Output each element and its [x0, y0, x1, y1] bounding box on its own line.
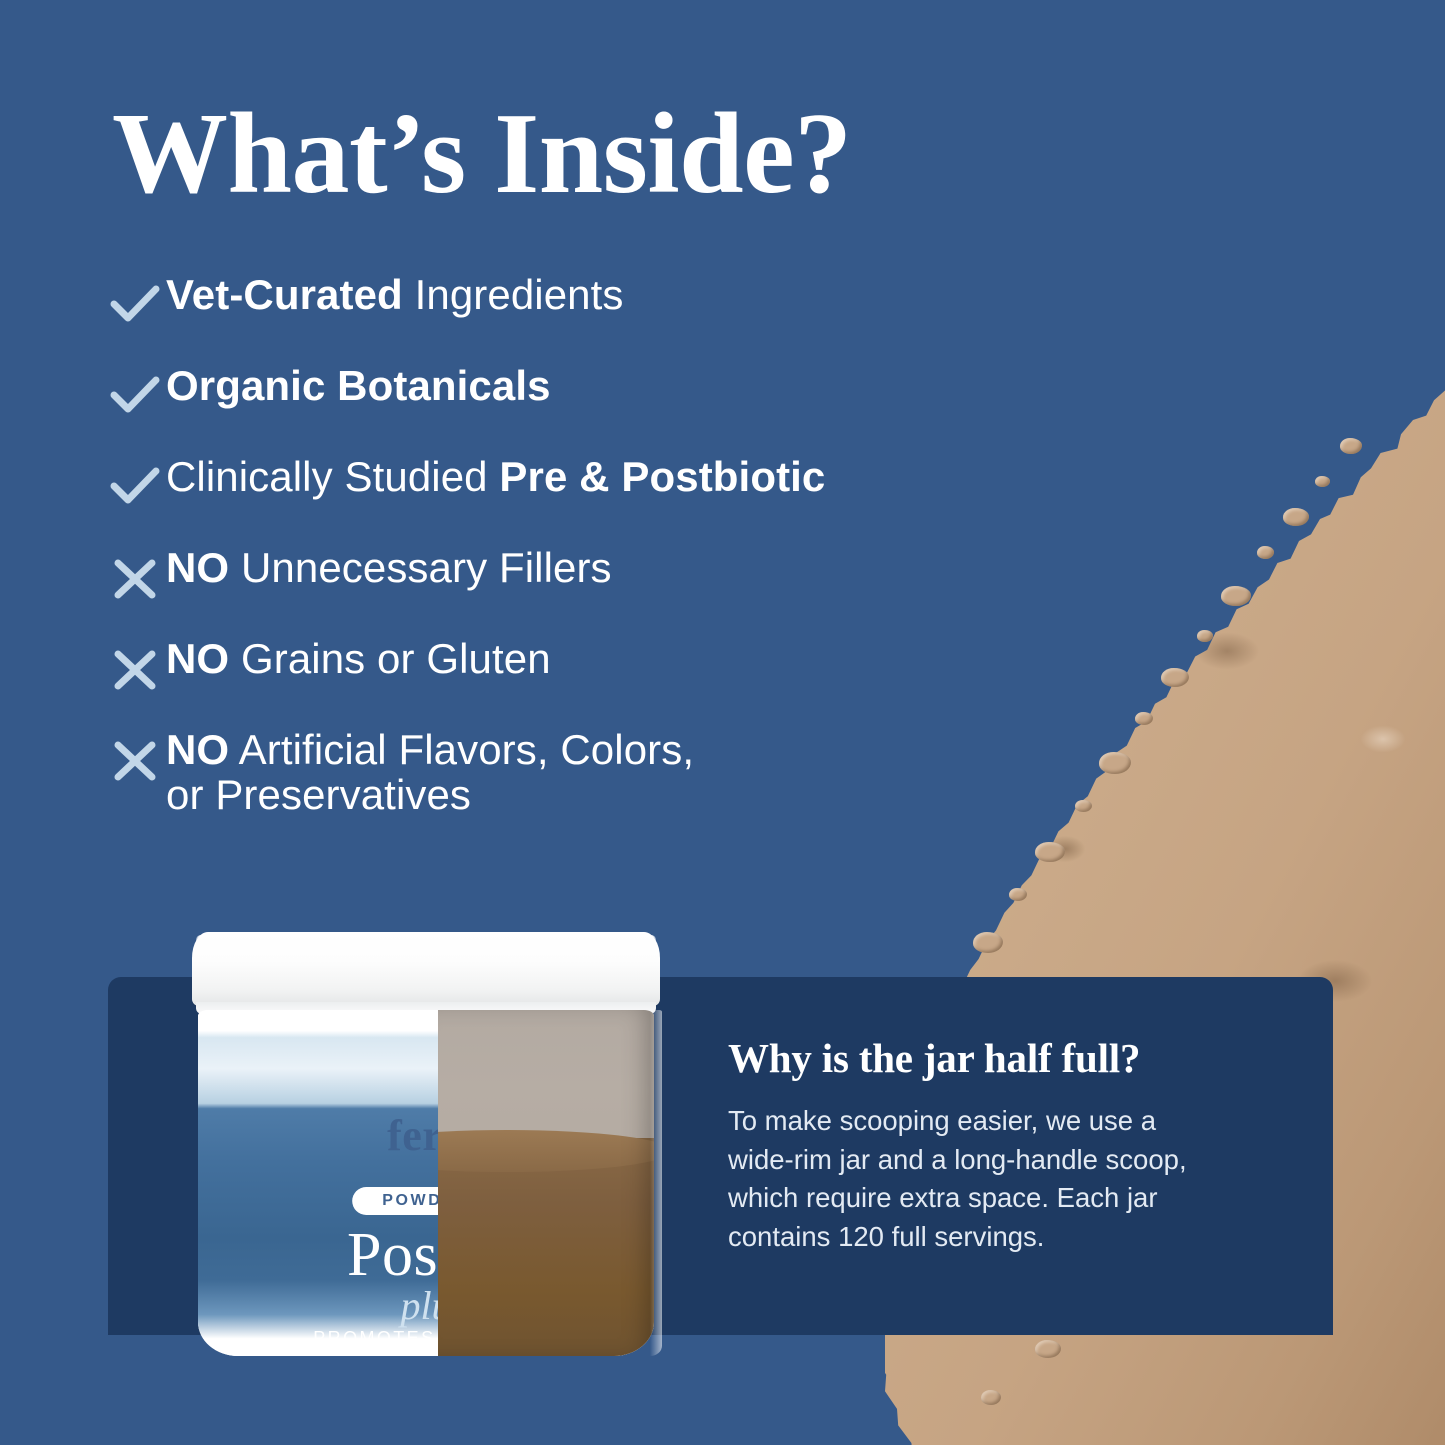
feature-item-pre-postbiotic: Clinically Studied Pre & Postbiotic — [108, 454, 1108, 514]
feature-bold: Vet-Curated — [166, 271, 403, 318]
feature-normal: Clinically Studied — [166, 453, 499, 500]
cross-icon — [108, 644, 166, 692]
check-icon — [108, 371, 166, 419]
feature-bold: NO — [166, 544, 229, 591]
powder-crumb — [1009, 888, 1027, 901]
check-icon — [108, 462, 166, 510]
product-jar-image: fera POWDER Postbi plu PROMOTES OPTIMAL … — [190, 932, 662, 1356]
feature-label: Organic Botanicals — [166, 363, 551, 408]
feature-label: NO Grains or Gluten — [166, 636, 551, 681]
info-card-text: Why is the jar half full? To make scoopi… — [728, 1034, 1288, 1256]
feature-item-no-artificial: NO Artificial Flavors, Colors, or Preser… — [108, 727, 1108, 818]
powder-crumb — [1135, 712, 1153, 725]
powder-crumb — [1221, 586, 1251, 606]
info-card-heading: Why is the jar half full? — [728, 1034, 1288, 1082]
feature-item-organic-botanicals: Organic Botanicals — [108, 363, 1108, 423]
info-card-body: To make scooping easier, we use a wide-r… — [728, 1102, 1228, 1256]
feature-item-no-fillers: NO Unnecessary Fillers — [108, 545, 1108, 605]
feature-item-no-grains: NO Grains or Gluten — [108, 636, 1108, 696]
powder-crumb — [1283, 508, 1309, 526]
jar-cutaway-view — [438, 1010, 654, 1356]
page-title: What’s Inside? — [112, 96, 852, 212]
feature-list: Vet-Curated Ingredients Organic Botanica… — [108, 272, 1108, 849]
jar-lid — [192, 932, 660, 1006]
feature-label: NO Artificial Flavors, Colors, or Preser… — [166, 727, 694, 818]
powder-crumb — [1161, 668, 1189, 687]
feature-normal: Unnecessary Fillers — [229, 544, 611, 591]
feature-normal: Ingredients — [403, 271, 624, 318]
powder-crumb — [1035, 1340, 1061, 1358]
powder-crumb — [1197, 630, 1213, 642]
feature-bold: NO — [166, 726, 229, 773]
promo-image: What’s Inside? Vet-Curated Ingredients O… — [0, 0, 1445, 1445]
powder-crumb — [1315, 476, 1330, 487]
feature-normal: Grains or Gluten — [229, 635, 551, 682]
feature-item-vet-curated: Vet-Curated Ingredients — [108, 272, 1108, 332]
powder-crumb — [1257, 546, 1274, 559]
feature-bold: NO — [166, 635, 229, 682]
feature-normal: Artificial Flavors, Colors, or Preservat… — [166, 726, 694, 818]
powder-crumb — [1340, 438, 1362, 454]
jar-powder-surface — [438, 1130, 654, 1172]
cross-icon — [108, 553, 166, 601]
feature-bold: Organic Botanicals — [166, 362, 551, 409]
powder-crumb — [981, 1390, 1001, 1405]
feature-bold: Pre & Postbiotic — [499, 453, 825, 500]
check-icon — [108, 280, 166, 328]
feature-label: NO Unnecessary Fillers — [166, 545, 612, 590]
feature-label: Clinically Studied Pre & Postbiotic — [166, 454, 825, 499]
powder-crumb — [973, 932, 1003, 953]
feature-label: Vet-Curated Ingredients — [166, 272, 624, 317]
cross-icon — [108, 735, 166, 783]
